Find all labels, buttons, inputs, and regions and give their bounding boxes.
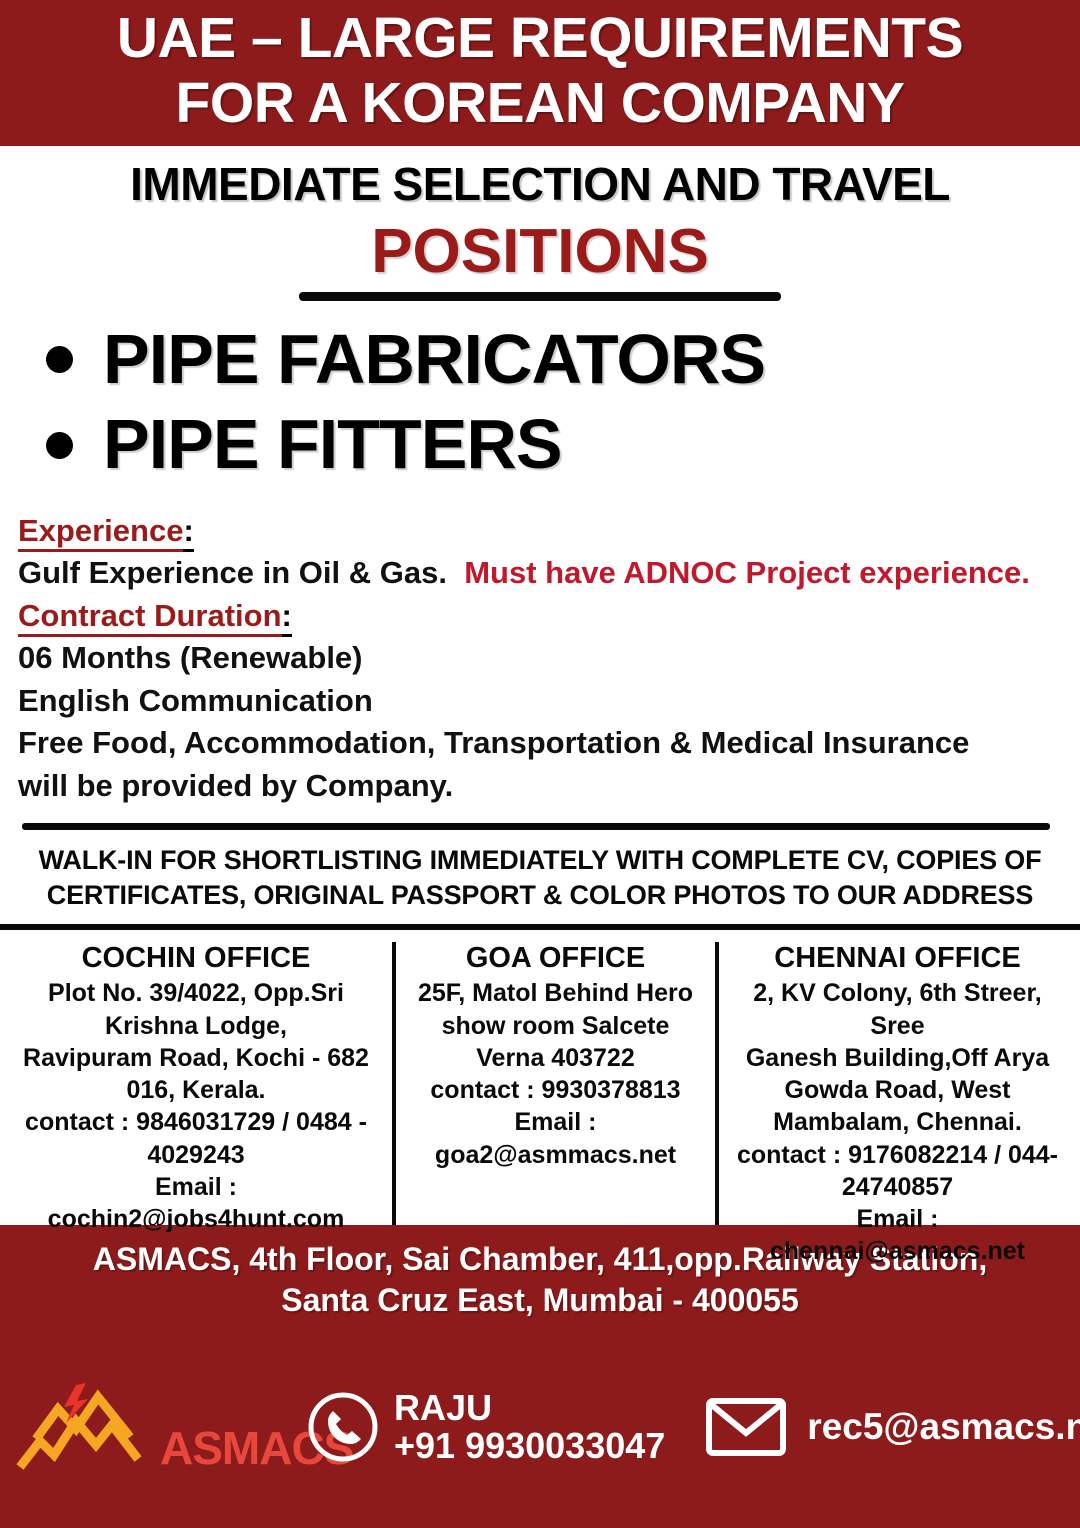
office-address-line: Verna 403722 xyxy=(406,1042,705,1074)
experience-colon: : xyxy=(183,513,193,552)
office-email-line[interactable]: Email : chennai@asmacs.net xyxy=(729,1203,1066,1268)
job-title-label: PIPE FABRICATORS xyxy=(103,323,765,397)
contract-label-row: Contract Duration: xyxy=(18,595,1064,637)
section-divider-rule xyxy=(22,823,1050,830)
office-email-line[interactable]: goa2@asmmacs.net xyxy=(406,1139,705,1171)
poster-header-band: UAE – LARGE REQUIREMENTS FOR A KOREAN CO… xyxy=(0,0,1080,146)
experience-label: Experience xyxy=(18,513,183,552)
office-address-line: show room Salcete xyxy=(406,1010,705,1042)
contract-duration-value: 06 Months (Renewable) xyxy=(18,637,1064,679)
list-item: PIPE FITTERS xyxy=(46,408,1080,482)
office-block-cochin: COCHIN OFFICE Plot No. 39/4022, Opp.Sri … xyxy=(0,942,392,1225)
office-title: GOA OFFICE xyxy=(406,942,705,975)
experience-value: Gulf Experience in Oil & Gas. xyxy=(18,555,447,590)
header-title-line-1: UAE – LARGE REQUIREMENTS xyxy=(0,6,1080,71)
contract-duration-label: Contract Duration xyxy=(18,598,282,637)
office-title: COCHIN OFFICE xyxy=(10,942,382,975)
job-positions-list: PIPE FABRICATORS PIPE FITTERS xyxy=(0,323,1080,494)
envelope-icon xyxy=(705,1395,787,1459)
mountain-logo-icon xyxy=(14,1381,164,1477)
office-contact-line[interactable]: 24740857 xyxy=(729,1171,1066,1203)
positions-underline-rule xyxy=(299,292,781,301)
job-advertisement-poster: UAE – LARGE REQUIREMENTS FOR A KOREAN CO… xyxy=(0,0,1080,1528)
office-email-label: Email : xyxy=(406,1106,705,1138)
walk-in-line-1: WALK-IN FOR SHORTLISTING IMMEDIATELY WIT… xyxy=(26,843,1054,878)
bullet-icon xyxy=(46,346,73,373)
office-email-line[interactable]: Email : cochin2@jobs4hunt.com xyxy=(10,1171,382,1236)
bullet-icon xyxy=(46,432,73,459)
experience-label-row: Experience: xyxy=(18,510,1064,552)
phone-text-block: RAJU +91 9930033047 xyxy=(394,1389,665,1465)
benefits-line-1: Free Food, Accommodation, Transportation… xyxy=(18,722,1064,764)
header-title-line-2: FOR A KOREAN COMPANY xyxy=(0,71,1080,136)
footer-contact-bar: ASMACS RAJU +91 9930033047 rec5@asmacs.n… xyxy=(0,1333,1080,1528)
office-contact-line[interactable]: contact : 9930378813 xyxy=(406,1074,705,1106)
office-block-chennai: CHENNAI OFFICE 2, KV Colony, 6th Streer,… xyxy=(715,942,1076,1225)
head-office-address-line-2: Santa Cruz East, Mumbai - 400055 xyxy=(20,1280,1060,1321)
requirements-details: Experience: Gulf Experience in Oil & Gas… xyxy=(0,510,1080,807)
office-contact-line[interactable]: contact : 9846031729 / 0484 - xyxy=(10,1106,382,1138)
office-addresses-section: COCHIN OFFICE Plot No. 39/4022, Opp.Sri … xyxy=(0,930,1080,1225)
experience-value-row: Gulf Experience in Oil & Gas. Must have … xyxy=(18,552,1064,594)
office-address-line: Krishna Lodge, xyxy=(10,1010,382,1042)
office-address-line: Ravipuram Road, Kochi - 682 xyxy=(10,1042,382,1074)
positions-heading-wrapper: POSITIONS xyxy=(0,221,1080,301)
office-contact-line[interactable]: contact : 9176082214 / 044- xyxy=(729,1139,1066,1171)
job-title-label: PIPE FITTERS xyxy=(103,408,562,482)
walk-in-instructions: WALK-IN FOR SHORTLISTING IMMEDIATELY WIT… xyxy=(0,830,1080,924)
positions-heading: POSITIONS xyxy=(371,221,709,283)
office-address-line: Plot No. 39/4022, Opp.Sri xyxy=(10,977,382,1009)
phone-contact-unit[interactable]: RAJU +91 9930033047 xyxy=(306,1389,665,1465)
office-address-line: Ganesh Building,Off Arya xyxy=(729,1042,1066,1074)
contact-person-name: RAJU xyxy=(394,1389,665,1427)
list-item: PIPE FABRICATORS xyxy=(46,323,1080,397)
phone-icon xyxy=(306,1390,380,1464)
immediate-selection-subheading: IMMEDIATE SELECTION AND TRAVEL xyxy=(0,157,1080,211)
email-contact-unit[interactable]: rec5@asmacs.net xyxy=(705,1395,1080,1459)
office-block-goa: GOA OFFICE 25F, Matol Behind Hero show r… xyxy=(392,942,715,1225)
office-address-line: Gowda Road, West xyxy=(729,1074,1066,1106)
contact-email-address[interactable]: rec5@asmacs.net xyxy=(807,1406,1080,1448)
benefits-line-2: will be provided by Company. xyxy=(18,765,1064,807)
office-address-line: 2, KV Colony, 6th Streer, Sree xyxy=(729,977,1066,1042)
office-title: CHENNAI OFFICE xyxy=(729,942,1066,975)
office-contact-line[interactable]: 4029243 xyxy=(10,1139,382,1171)
office-address-line: 016, Kerala. xyxy=(10,1074,382,1106)
adnoc-requirement-note: Must have ADNOC Project experience. xyxy=(464,555,1030,590)
language-requirement: English Communication xyxy=(18,680,1064,722)
office-address-line: Mambalam, Chennai. xyxy=(729,1106,1066,1138)
contact-phone-number[interactable]: +91 9930033047 xyxy=(394,1427,665,1465)
contract-colon: : xyxy=(282,598,292,637)
office-address-line: 25F, Matol Behind Hero xyxy=(406,977,705,1009)
asmacs-logo: ASMACS xyxy=(14,1377,306,1477)
walk-in-line-2: CERTIFICATES, ORIGINAL PASSPORT & COLOR … xyxy=(26,878,1054,913)
